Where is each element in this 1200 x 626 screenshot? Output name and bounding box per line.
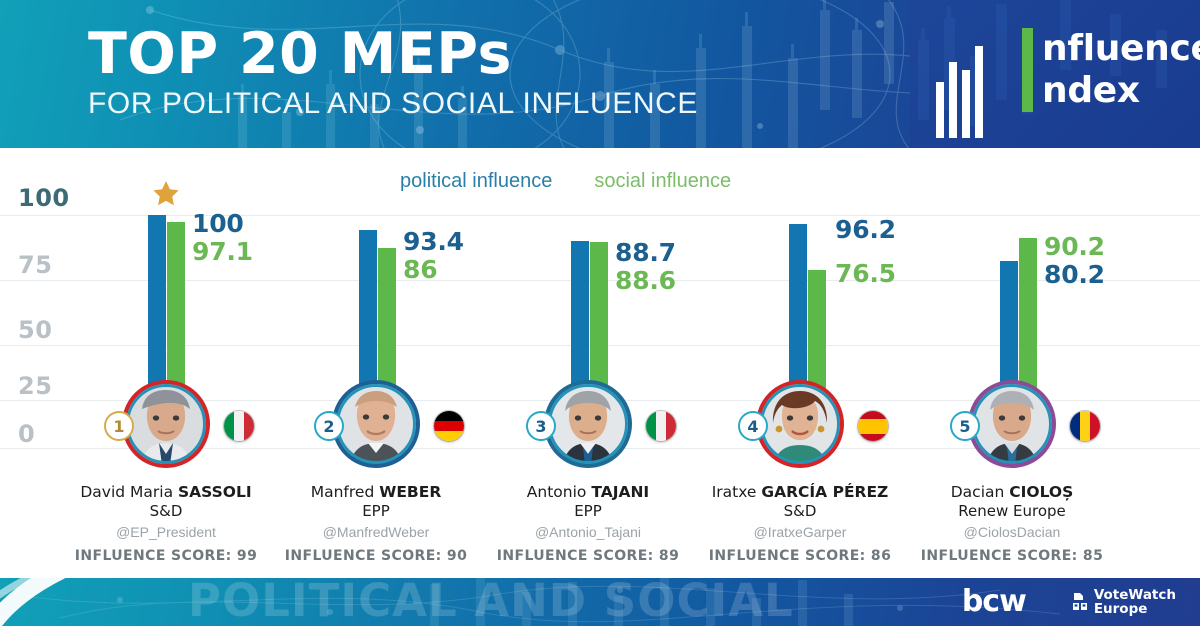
flag-spain-4 <box>858 411 888 441</box>
mep-handle-4[interactable]: @IratxeGarper <box>694 522 906 542</box>
mep-card-2[interactable]: 2 Manfred WEBER EPP @ManfredWeber INFLUE… <box>270 383 482 564</box>
rank-badge-4: 4 <box>738 411 768 441</box>
flag-romania-5 <box>1070 411 1100 441</box>
avatar-ring-inner-3 <box>548 384 628 464</box>
votewatch-line-2: Europe <box>1094 602 1176 616</box>
influence-index-logo: nfluence ndex <box>910 0 1200 148</box>
footer-logos: bcw VoteWatch Europe <box>962 578 1176 626</box>
mep-party-5: Renew Europe <box>906 502 1118 521</box>
page-title: TOP 20 MEPs <box>88 24 698 84</box>
avatar-ring-inner-4 <box>760 384 840 464</box>
rank-badge-1: 1 <box>104 411 134 441</box>
page-header: TOP 20 MEPs FOR POLITICAL AND SOCIAL INF… <box>0 0 1200 148</box>
mep-card-1[interactable]: 1 David Maria SASSOLI S&D @EP_President … <box>60 383 272 564</box>
mep-name-2: Manfred WEBER <box>270 483 482 502</box>
mep-handle-3[interactable]: @Antonio_Tajani <box>482 522 694 542</box>
mep-handle-2[interactable]: @ManfredWeber <box>270 522 482 542</box>
rank-badge-3: 3 <box>526 411 556 441</box>
avatar-row-2: 2 <box>270 383 482 475</box>
avatar-row-1: 1 <box>60 383 272 475</box>
logo-word-influence: nfluence <box>1042 28 1200 70</box>
mep-name-5: Dacian CIOLOȘ <box>906 483 1118 502</box>
bcw-logo: bcw <box>962 587 1026 617</box>
mep-party-3: EPP <box>482 502 694 521</box>
flag-italy-3 <box>646 411 676 441</box>
logo-green-i-bar-2 <box>1022 70 1033 112</box>
mep-score-5: INFLUENCE SCORE: 85 <box>906 548 1118 564</box>
mep-party-1: S&D <box>60 502 272 521</box>
mep-card-3[interactable]: 3 Antonio TAJANI EPP @Antonio_Tajani INF… <box>482 383 694 564</box>
mep-handle-1[interactable]: @EP_President <box>60 522 272 542</box>
logo-word-index: ndex <box>1042 70 1140 112</box>
footer-watermark: POLITICAL AND SOCIAL <box>188 578 794 626</box>
footer-swoosh-decoration <box>0 578 200 626</box>
header-title-block: TOP 20 MEPs FOR POLITICAL AND SOCIAL INF… <box>88 24 698 122</box>
avatar-ring-inner-1 <box>126 384 206 464</box>
mep-score-3: INFLUENCE SCORE: 89 <box>482 548 694 564</box>
mep-party-2: EPP <box>270 502 482 521</box>
avatar-row-5: 5 <box>906 383 1118 475</box>
rank-badge-5: 5 <box>950 411 980 441</box>
avatar-row-4: 4 <box>694 383 906 475</box>
mep-handle-5[interactable]: @CiolosDacian <box>906 522 1118 542</box>
mep-score-4: INFLUENCE SCORE: 86 <box>694 548 906 564</box>
avatar-row-3: 3 <box>482 383 694 475</box>
avatar-ring-inner-5 <box>972 384 1052 464</box>
mep-name-4: Iratxe GARCÍA PÉREZ <box>694 483 906 502</box>
page-footer: POLITICAL AND SOCIAL bcw VoteWatch Europ… <box>0 578 1200 626</box>
votewatch-text: VoteWatch Europe <box>1094 588 1176 616</box>
logo-wordmark: nfluence ndex <box>1022 28 1200 112</box>
avatar-ring-inner-2 <box>336 384 416 464</box>
logo-green-i-bar <box>1022 28 1033 70</box>
flag-germany-2 <box>434 411 464 441</box>
mep-name-3: Antonio TAJANI <box>482 483 694 502</box>
mep-score-2: INFLUENCE SCORE: 90 <box>270 548 482 564</box>
votewatch-line-1: VoteWatch <box>1094 588 1176 602</box>
flag-italy-1 <box>224 411 254 441</box>
votewatch-europe-logo: VoteWatch Europe <box>1072 588 1176 616</box>
logo-bar-marks <box>936 44 983 138</box>
votewatch-ballot-icon <box>1072 592 1089 612</box>
mep-card-list: 1 David Maria SASSOLI S&D @EP_President … <box>0 148 1200 578</box>
mep-party-4: S&D <box>694 502 906 521</box>
page-subtitle: FOR POLITICAL AND SOCIAL INFLUENCE <box>88 86 698 122</box>
mep-card-5[interactable]: 5 Dacian CIOLOȘ Renew Europe @CiolosDaci… <box>906 383 1118 564</box>
mep-card-4[interactable]: 4 Iratxe GARCÍA PÉREZ S&D @IratxeGarper … <box>694 383 906 564</box>
rank-badge-2: 2 <box>314 411 344 441</box>
mep-score-1: INFLUENCE SCORE: 99 <box>60 548 272 564</box>
mep-name-1: David Maria SASSOLI <box>60 483 272 502</box>
